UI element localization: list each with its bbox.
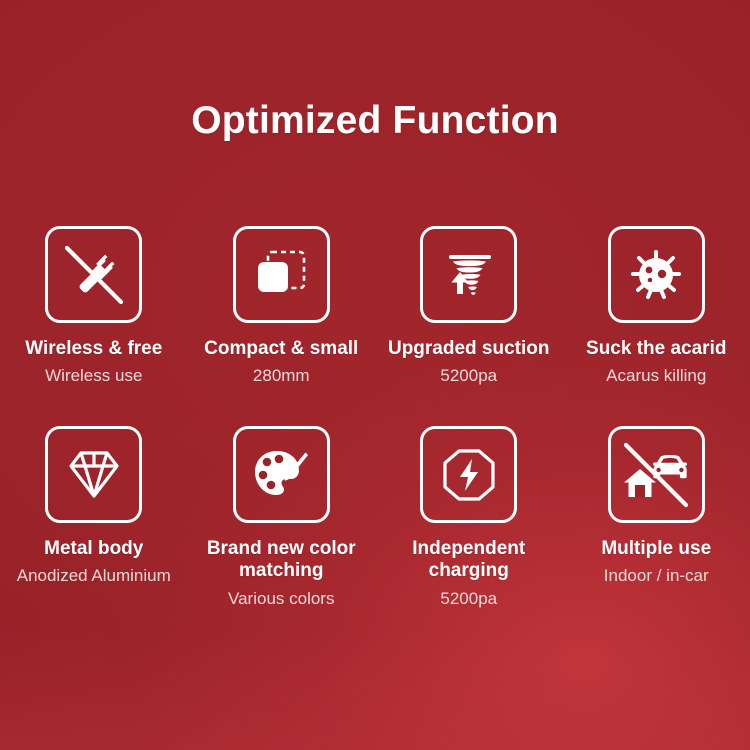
feature-subtitle: Indoor / in-car (604, 566, 709, 586)
feature-title: Suck the acarid (586, 338, 726, 360)
feature-item-charging[interactable]: Independent charging 5200pa (375, 426, 563, 626)
lightning-octagon-icon (440, 446, 498, 504)
no-plug-icon (57, 238, 131, 312)
icon-frame (233, 426, 330, 523)
feature-item-multiple-use[interactable]: Multiple use Indoor / in-car (563, 426, 750, 626)
feature-item-compact[interactable]: Compact & small 280mm (188, 226, 376, 426)
feature-title: Wireless & free (25, 338, 162, 360)
icon-frame (420, 226, 517, 323)
feature-item-wireless[interactable]: Wireless & free Wireless use (0, 226, 188, 426)
icon-frame (45, 426, 142, 523)
feature-subtitle: Various colors (228, 589, 334, 609)
icon-frame (608, 226, 705, 323)
house-car-icon (618, 437, 694, 513)
feature-item-acarid[interactable]: Suck the acarid Acarus killing (563, 226, 750, 426)
feature-title: Upgraded suction (388, 338, 550, 360)
feature-subtitle: Anodized Aluminium (17, 566, 171, 586)
feature-title: Multiple use (601, 538, 711, 560)
icon-frame (608, 426, 705, 523)
paint-palette-icon (250, 445, 312, 505)
icon-frame (420, 426, 517, 523)
feature-title: Metal body (44, 538, 143, 560)
feature-item-suction[interactable]: Upgraded suction 5200pa (375, 226, 563, 426)
feature-title: Brand new color matching (201, 538, 361, 583)
feature-title: Compact & small (204, 338, 358, 360)
feature-subtitle: 5200pa (440, 366, 497, 386)
icon-frame (45, 226, 142, 323)
feature-item-metal-body[interactable]: Metal body Anodized Aluminium (0, 426, 188, 626)
icon-frame (233, 226, 330, 323)
feature-subtitle: 5200pa (440, 589, 497, 609)
feature-title: Independent charging (383, 538, 555, 583)
diamond-icon (63, 446, 125, 504)
feature-item-color-matching[interactable]: Brand new color matching Various colors (188, 426, 376, 626)
feature-subtitle: Acarus killing (606, 366, 706, 386)
promo-poster: Optimized Function (0, 0, 750, 750)
compact-resize-icon (252, 246, 310, 304)
page-title: Optimized Function (0, 99, 750, 143)
feature-grid: Wireless & free Wireless use Compact & s… (0, 226, 750, 626)
feature-subtitle: Wireless use (45, 366, 142, 386)
tornado-suction-icon (438, 244, 500, 306)
feature-subtitle: 280mm (253, 366, 310, 386)
dust-mite-icon (626, 246, 686, 304)
